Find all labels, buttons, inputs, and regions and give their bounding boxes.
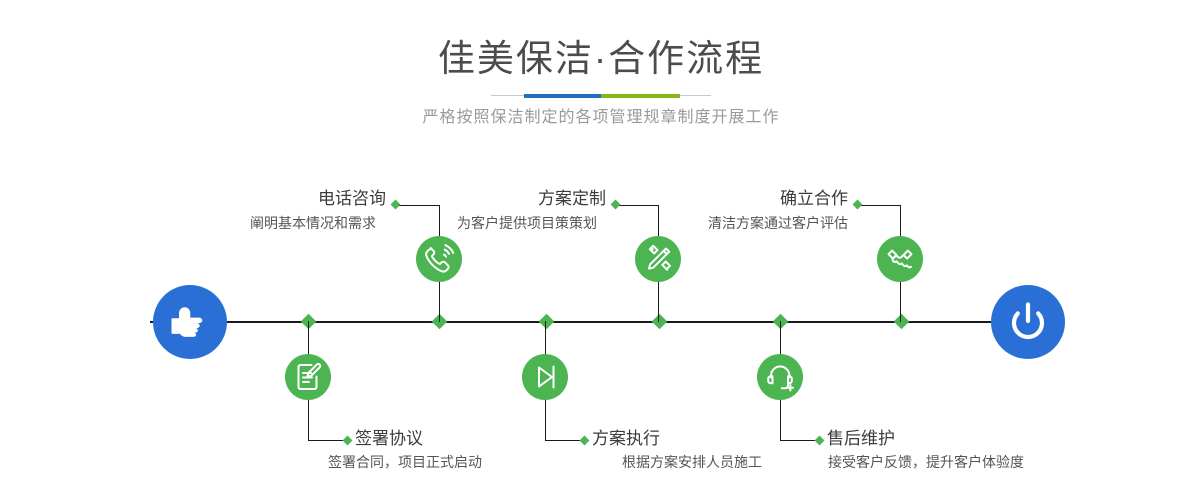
step-desc-6: 接受客户反馈，提升客户体验度	[828, 452, 1024, 472]
step-title-3: 方案定制	[430, 188, 606, 210]
axis-marker-3	[539, 314, 555, 330]
play-skip-icon	[522, 354, 568, 400]
timeline-start-endpoint	[153, 285, 227, 359]
step-node-6[interactable]	[757, 354, 803, 400]
step-node-4[interactable]	[522, 354, 568, 400]
pointing-hand-icon	[153, 285, 227, 359]
headset-support-icon	[757, 354, 803, 400]
axis-marker-6	[894, 314, 910, 330]
timeline-axis	[150, 321, 1052, 323]
connector-lead-step-5	[860, 205, 901, 206]
step-title-1: 电话咨询	[212, 188, 386, 210]
label-bullet-step-4	[580, 436, 590, 446]
step-title-4: 方案执行	[592, 428, 660, 450]
timeline-end-endpoint	[991, 285, 1065, 359]
connector-lead-step-6	[780, 440, 819, 441]
step-node-1[interactable]	[416, 236, 462, 282]
step-desc-5: 清洁方案通过客户评估	[708, 213, 848, 233]
phone-call-icon	[416, 236, 462, 282]
page-title: 佳美保洁·合作流程	[0, 36, 1202, 82]
handshake-icon	[877, 236, 923, 282]
step-desc-2: 签署合同，项目正式启动	[328, 452, 482, 472]
label-bullet-step-3	[611, 200, 621, 210]
label-bullet-step-2	[343, 436, 353, 446]
step-desc-3: 为客户提供项目策策划	[457, 213, 597, 233]
label-bullet-step-5	[853, 200, 863, 210]
label-bullet-step-1	[391, 200, 401, 210]
pencil-ruler-icon	[635, 236, 681, 282]
document-edit-icon	[285, 354, 331, 400]
step-desc-1: 阐明基本情况和需求	[250, 213, 376, 233]
label-bullet-step-6	[815, 436, 825, 446]
step-title-6: 售后维护	[827, 428, 895, 450]
step-node-5[interactable]	[877, 236, 923, 282]
step-title-5: 确立合作	[672, 188, 848, 210]
step-title-2: 签署协议	[355, 428, 423, 450]
power-button-icon	[991, 285, 1065, 359]
connector-lead-step-4	[545, 440, 584, 441]
page-subtitle: 严格按照保洁制定的各项管理规章制度开展工作	[0, 106, 1202, 130]
divider-segment-green	[601, 94, 680, 98]
title-divider	[491, 94, 711, 98]
step-node-2[interactable]	[285, 354, 331, 400]
step-desc-4: 根据方案安排人员施工	[622, 452, 762, 472]
axis-marker-4	[652, 314, 668, 330]
divider-segment-blue	[524, 94, 601, 98]
connector-lead-step-2	[308, 440, 347, 441]
cooperation-process-infographic: 佳美保洁·合作流程 严格按照保洁制定的各项管理规章制度开展工作	[0, 0, 1202, 502]
connector-lead-step-3	[618, 205, 659, 206]
step-node-3[interactable]	[635, 236, 681, 282]
